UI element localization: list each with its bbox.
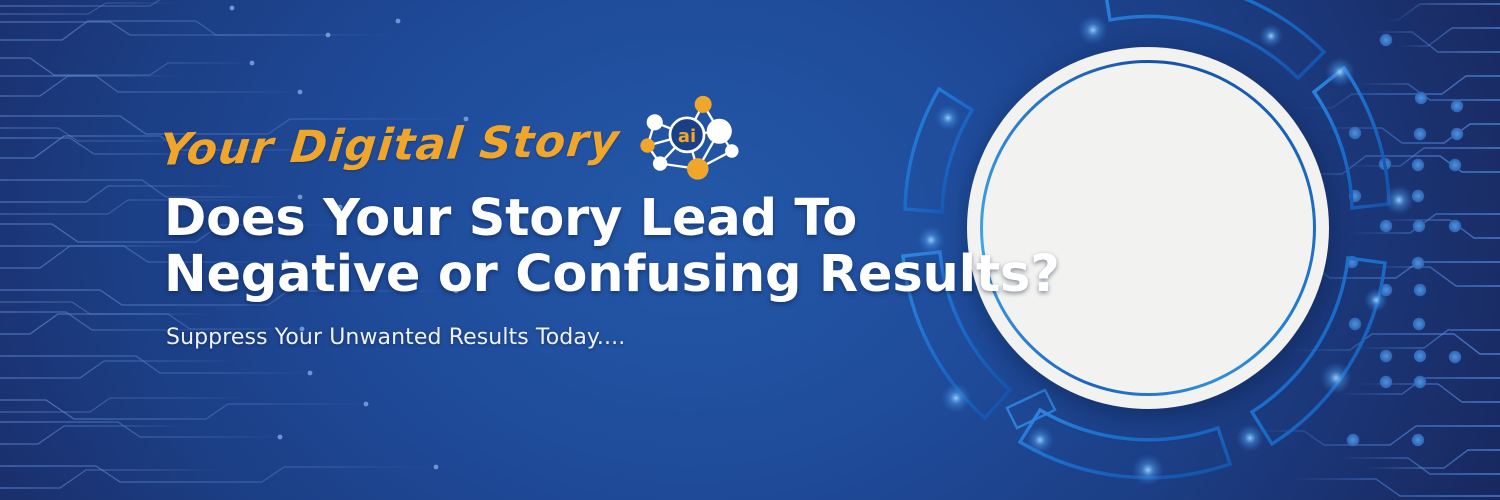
- page-title: Does Your Story Lead To Negative or Conf…: [164, 191, 920, 303]
- ai-network-nodes-icon: ai: [633, 90, 741, 194]
- brand-script-title: Your Digital Story: [157, 115, 622, 176]
- hero-photo: [984, 64, 1312, 392]
- ai-badge-label: ai: [678, 126, 696, 147]
- headline-line-1: Does Your Story Lead To: [164, 191, 920, 247]
- headline-line-2: Negative or Confusing Results?: [164, 247, 920, 303]
- banner-copy: Your Digital Story: [160, 105, 920, 350]
- hero-photo-frame: [967, 47, 1329, 409]
- subheadline: Suppress Your Unwanted Results Today....: [166, 325, 920, 350]
- promo-banner: Your Digital Story: [0, 0, 1500, 500]
- hero-white-plate: [967, 47, 1329, 409]
- brand-lockup: Your Digital Story: [160, 105, 920, 185]
